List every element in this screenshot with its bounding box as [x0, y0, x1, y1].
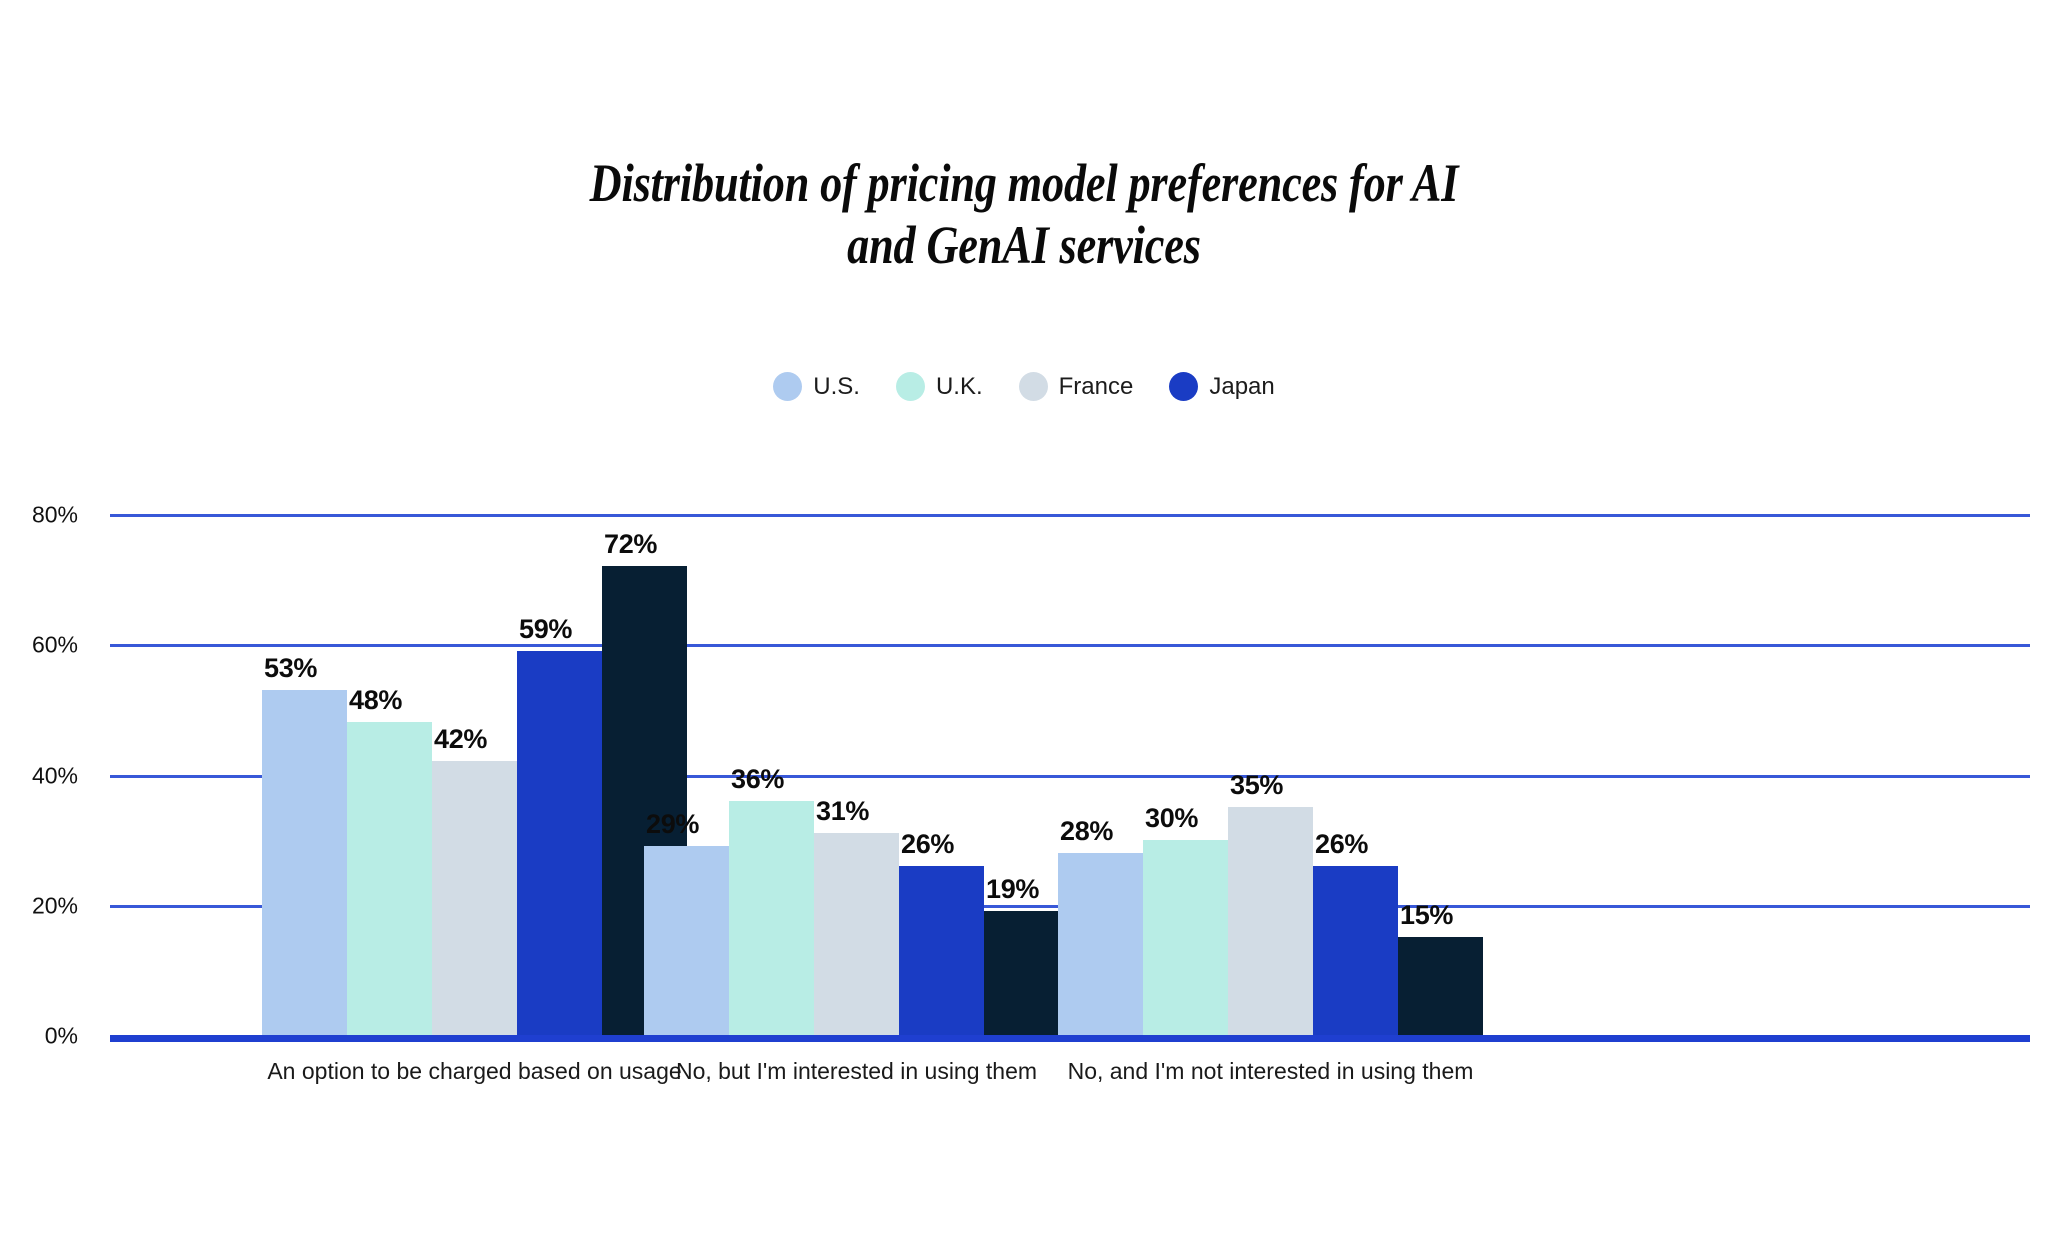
legend-swatch-icon-uk [896, 372, 925, 401]
legend-item-france[interactable]: France [1019, 372, 1134, 401]
x-category-label: No, and I'm not interested in using them [1068, 1058, 1474, 1085]
legend-item-uk[interactable]: U.K. [896, 372, 983, 401]
bar-column[interactable]: 48% [347, 514, 432, 1035]
legend-swatch-icon-us [773, 372, 802, 401]
bar-value-label: 26% [1315, 829, 1368, 860]
x-category-label: An option to be charged based on usage [267, 1058, 681, 1085]
bar[interactable] [1143, 840, 1228, 1035]
bar-column[interactable]: 42% [432, 514, 517, 1035]
bar-column[interactable]: 29% [644, 514, 729, 1035]
bar[interactable] [644, 846, 729, 1035]
bar-group: 29%36%31%26%19% [644, 514, 1069, 1035]
page-title: Distribution of pricing model preference… [184, 152, 1863, 276]
bar-value-label: 53% [264, 653, 317, 684]
bar[interactable] [814, 833, 899, 1035]
bar[interactable] [1228, 807, 1313, 1035]
bar-column[interactable]: 15% [1398, 514, 1483, 1035]
bar-value-label: 42% [434, 724, 487, 755]
y-tick-label-20: 20% [32, 892, 78, 919]
bar-group: 28%30%35%26%15% [1058, 514, 1483, 1035]
bar[interactable] [517, 651, 602, 1035]
bar[interactable] [1398, 937, 1483, 1035]
bar[interactable] [347, 722, 432, 1035]
bar-value-label: 36% [731, 764, 784, 795]
x-axis-labels: An option to be charged based on usageNo… [110, 1058, 2030, 1098]
bar-column[interactable]: 31% [814, 514, 899, 1035]
bar[interactable] [729, 801, 814, 1035]
legend-item-us[interactable]: U.S. [773, 372, 860, 401]
legend-swatch-icon-france [1019, 372, 1048, 401]
bar-value-label: 59% [519, 614, 572, 645]
bar-value-label: 48% [349, 685, 402, 716]
bar[interactable] [899, 866, 984, 1035]
bar-value-label: 26% [901, 829, 954, 860]
bar-column[interactable]: 19% [984, 514, 1069, 1035]
bar-value-label: 30% [1145, 803, 1198, 834]
bar-column[interactable]: 53% [262, 514, 347, 1035]
bar-column[interactable]: 59% [517, 514, 602, 1035]
y-axis-labels: 0%20%40%60%80% [0, 514, 100, 1039]
bar-column[interactable]: 26% [899, 514, 984, 1035]
legend-swatch-icon-japan [1169, 372, 1198, 401]
y-tick-label-0: 0% [45, 1023, 78, 1050]
bar[interactable] [262, 690, 347, 1035]
y-tick-label-80: 80% [32, 502, 78, 529]
legend-label-japan: Japan [1209, 375, 1274, 399]
legend-item-japan[interactable]: Japan [1169, 372, 1274, 401]
bar-column[interactable]: 36% [729, 514, 814, 1035]
legend-label-uk: U.K. [936, 375, 983, 399]
bar-column[interactable]: 26% [1313, 514, 1398, 1035]
bar[interactable] [984, 911, 1069, 1035]
bar-column[interactable]: 30% [1143, 514, 1228, 1035]
y-tick-label-40: 40% [32, 762, 78, 789]
bar[interactable] [432, 761, 517, 1035]
bar-series-container: 53%48%42%59%72%29%36%31%26%19%28%30%35%2… [110, 514, 2030, 1035]
bar[interactable] [1058, 853, 1143, 1035]
y-tick-label-60: 60% [32, 632, 78, 659]
bar-value-label: 31% [816, 796, 869, 827]
bar-value-label: 28% [1060, 816, 1113, 847]
title-line-1: Distribution of pricing model preference… [184, 152, 1863, 214]
bar-value-label: 29% [646, 809, 699, 840]
bar-value-label: 35% [1230, 770, 1283, 801]
bar[interactable] [1313, 866, 1398, 1035]
x-axis-baseline [110, 1035, 2030, 1042]
bar-column[interactable]: 28% [1058, 514, 1143, 1035]
bar-value-label: 19% [986, 874, 1039, 905]
chart-legend: U.S. U.K. France Japan [0, 372, 2048, 401]
legend-label-us: U.S. [813, 375, 860, 399]
bar-group: 53%48%42%59%72% [262, 514, 687, 1035]
title-line-2: and GenAI services [184, 214, 1863, 276]
bar-value-label: 15% [1400, 900, 1453, 931]
x-category-label: No, but I'm interested in using them [676, 1058, 1037, 1085]
legend-label-france: France [1059, 375, 1134, 399]
bar-column[interactable]: 35% [1228, 514, 1313, 1035]
